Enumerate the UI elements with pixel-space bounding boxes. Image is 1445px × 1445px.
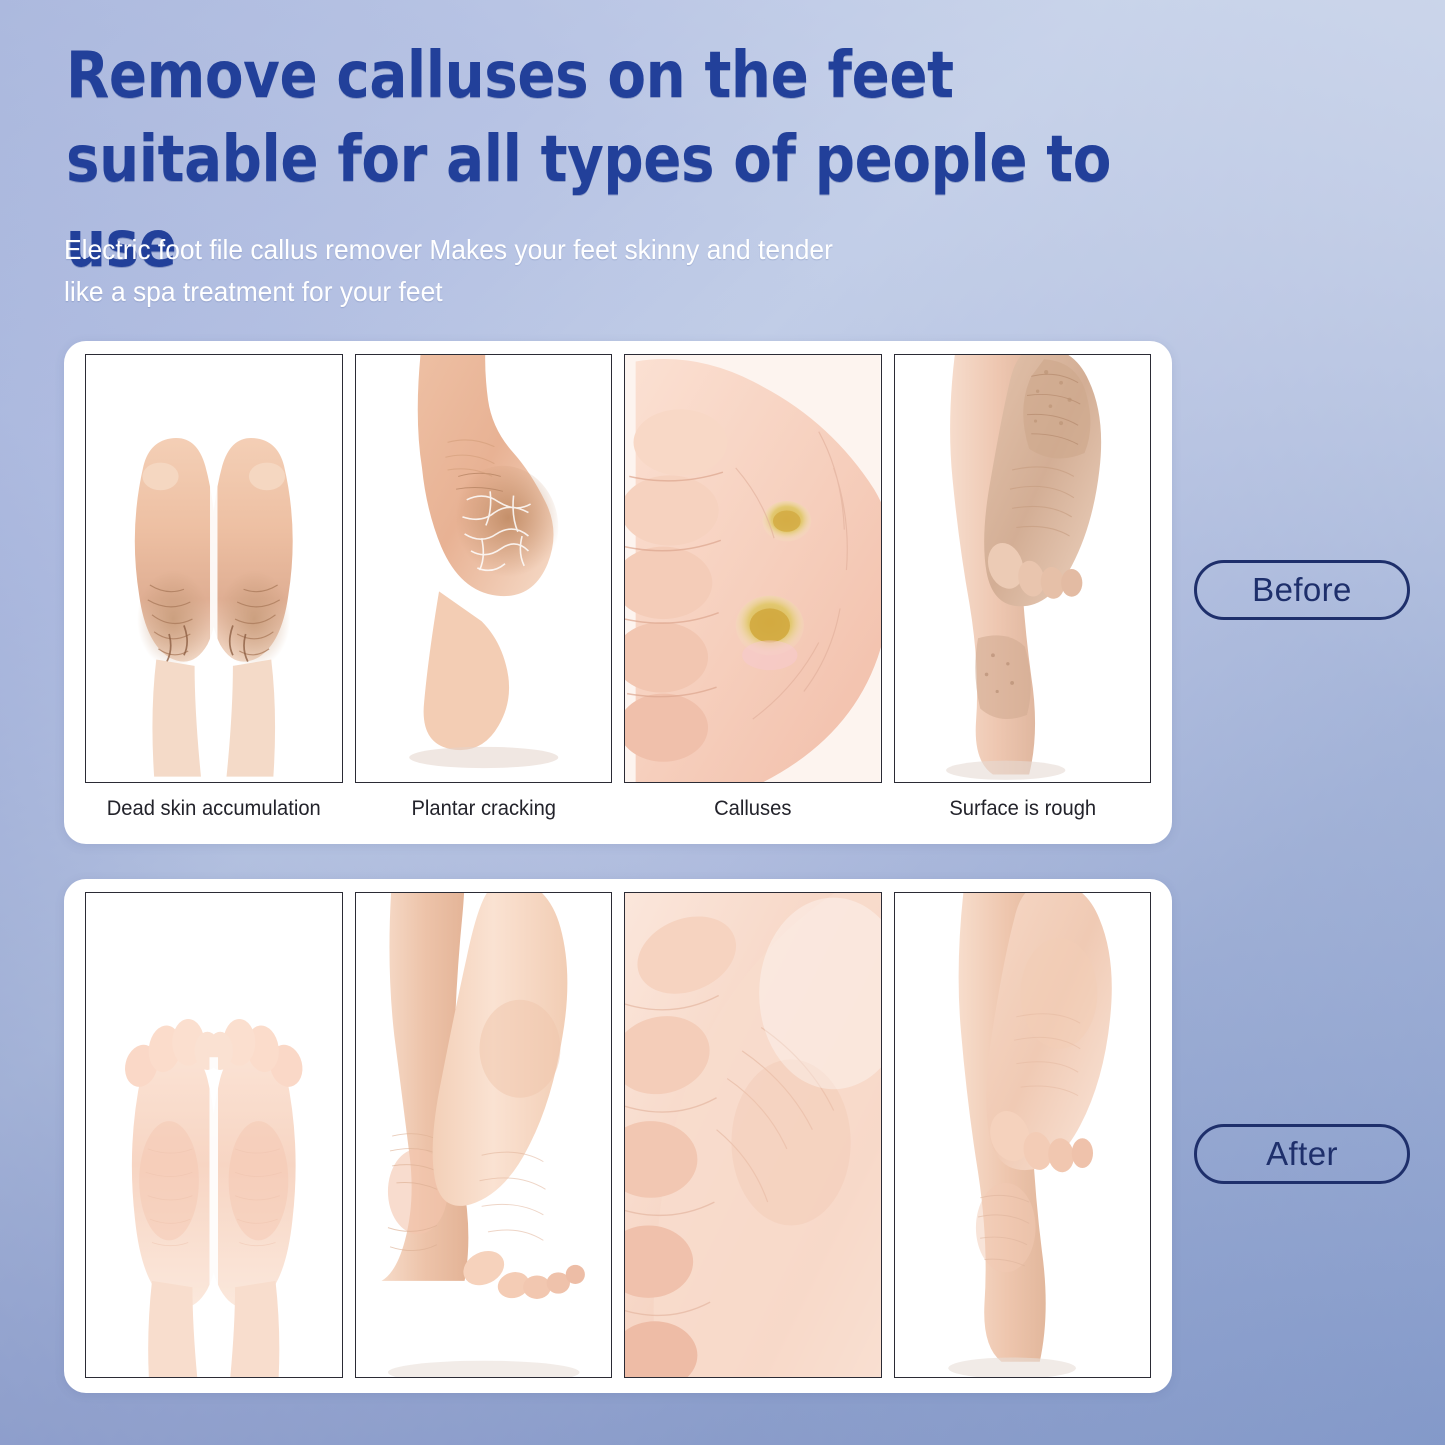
photo-smooth-soles: [85, 892, 343, 1378]
photo-smooth-forefoot: [624, 892, 882, 1378]
subtitle-line-1: Electric foot file callus remover Makes …: [64, 234, 833, 265]
before-badge: Before: [1194, 560, 1410, 620]
photo-calluses: [624, 354, 882, 783]
after-photo-row: [85, 892, 1151, 1378]
after-card: [64, 879, 1172, 1393]
headline-line-1: Remove calluses on the feet: [66, 39, 954, 113]
after-badge: After: [1194, 1124, 1410, 1184]
page-subtitle: Electric foot file callus remover Makes …: [64, 229, 1082, 313]
product-infographic: Remove calluses on the feet suitable for…: [0, 0, 1445, 1445]
caption-plantar-cracking: Plantar cracking: [360, 785, 607, 833]
before-card: Dead skin accumulation Plantar cracking …: [64, 341, 1172, 844]
photo-dead-skin: [85, 354, 343, 783]
before-caption-row: Dead skin accumulation Plantar cracking …: [85, 785, 1151, 833]
subtitle-line-2: like a spa treatment for your feet: [64, 271, 1082, 313]
photo-smooth-standing: [894, 892, 1152, 1378]
before-photo-row: [85, 354, 1151, 783]
caption-dead-skin: Dead skin accumulation: [90, 785, 337, 833]
caption-calluses: Calluses: [629, 785, 876, 833]
photo-smooth-heels: [355, 892, 613, 1378]
caption-rough-surface: Surface is rough: [899, 785, 1146, 833]
photo-plantar-cracking: [355, 354, 613, 783]
photo-rough-surface: [894, 354, 1152, 783]
